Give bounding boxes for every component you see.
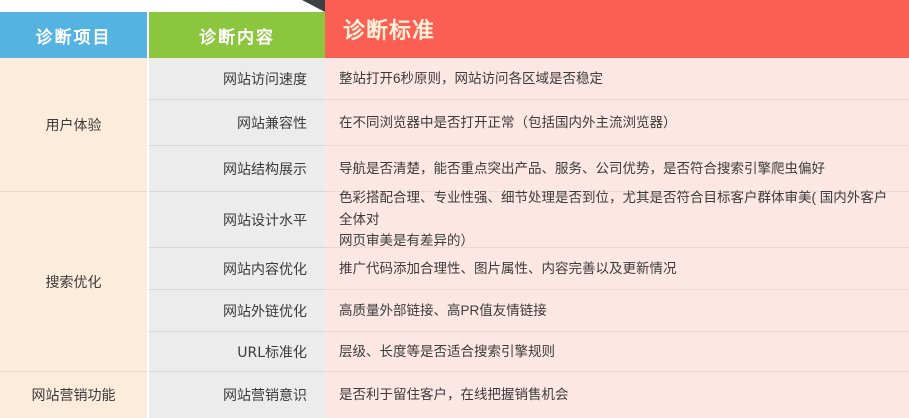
table-header-row: 诊断项目 诊断内容 诊断标准 <box>0 0 909 58</box>
column-header-item: 诊断项目 <box>0 12 147 58</box>
standard-cell: 高质量外部链接、高PR值友情链接 <box>325 290 909 332</box>
standard-cell: 层级、长度等是否适合搜索引擎规则 <box>325 332 909 372</box>
content-cell: 网站内容优化 <box>149 248 325 290</box>
content-cell: 网站营销意识 <box>149 372 325 418</box>
content-cell: 网站访问速度 <box>149 58 325 100</box>
standard-cell: 色彩搭配合理、专业性强、细节处理是否到位，尤其是否符合目标客户群体审美( 国内外… <box>325 192 909 248</box>
standard-text-line: 导航是否清楚，能否重点突出产品、服务、公司优势，是否符合搜索引擎爬虫偏好 <box>339 158 825 180</box>
standard-text-line: 高质量外部链接、高PR值友情链接 <box>339 300 547 322</box>
category-column: 用户体验搜索优化网站营销功能 <box>0 58 147 418</box>
content-cell: 网站外链优化 <box>149 290 325 332</box>
content-cell: 网站结构展示 <box>149 146 325 192</box>
category-cell: 网站营销功能 <box>0 372 147 418</box>
standard-text-line: 在不同浏览器中是否打开正常（包括国内外主流浏览器） <box>339 112 677 134</box>
category-cell: 搜索优化 <box>0 192 147 372</box>
category-cell: 用户体验 <box>0 58 147 192</box>
ribbon-fold-icon <box>302 0 325 12</box>
standard-text-line: 网页审美是有差异的） <box>339 230 899 252</box>
content-cell: URL标准化 <box>149 332 325 372</box>
standard-cell: 是否利于留住客户，在线把握销售机会 <box>325 372 909 418</box>
content-column: 网站访问速度网站兼容性网站结构展示网站设计水平网站内容优化网站外链优化URL标准… <box>149 58 325 418</box>
standard-text-line: 推广代码添加合理性、图片属性、内容完善以及更新情况 <box>339 258 677 280</box>
standard-text-line: 整站打开6秒原则，网站访问各区域是否稳定 <box>339 68 603 90</box>
standard-text-line: 色彩搭配合理、专业性强、细节处理是否到位，尤其是否符合目标客户群体审美( 国内外… <box>339 187 899 230</box>
column-header-standard: 诊断标准 <box>325 0 909 58</box>
content-cell: 网站设计水平 <box>149 192 325 248</box>
standard-cell: 推广代码添加合理性、图片属性、内容完善以及更新情况 <box>325 248 909 290</box>
standard-cell: 在不同浏览器中是否打开正常（包括国内外主流浏览器） <box>325 100 909 146</box>
standard-column: 整站打开6秒原则，网站访问各区域是否稳定在不同浏览器中是否打开正常（包括国内外主… <box>325 58 909 418</box>
standard-cell: 导航是否清楚，能否重点突出产品、服务、公司优势，是否符合搜索引擎爬虫偏好 <box>325 146 909 192</box>
standard-cell: 整站打开6秒原则，网站访问各区域是否稳定 <box>325 58 909 100</box>
standard-text-line: 是否利于留住客户，在线把握销售机会 <box>339 384 569 406</box>
diagnosis-table: 诊断项目 诊断内容 诊断标准 用户体验搜索优化网站营销功能 网站访问速度网站兼容… <box>0 0 909 418</box>
column-header-content: 诊断内容 <box>149 12 325 58</box>
content-cell: 网站兼容性 <box>149 100 325 146</box>
table-body: 用户体验搜索优化网站营销功能 网站访问速度网站兼容性网站结构展示网站设计水平网站… <box>0 58 909 418</box>
standard-text-line: 层级、长度等是否适合搜索引擎规则 <box>339 341 555 363</box>
